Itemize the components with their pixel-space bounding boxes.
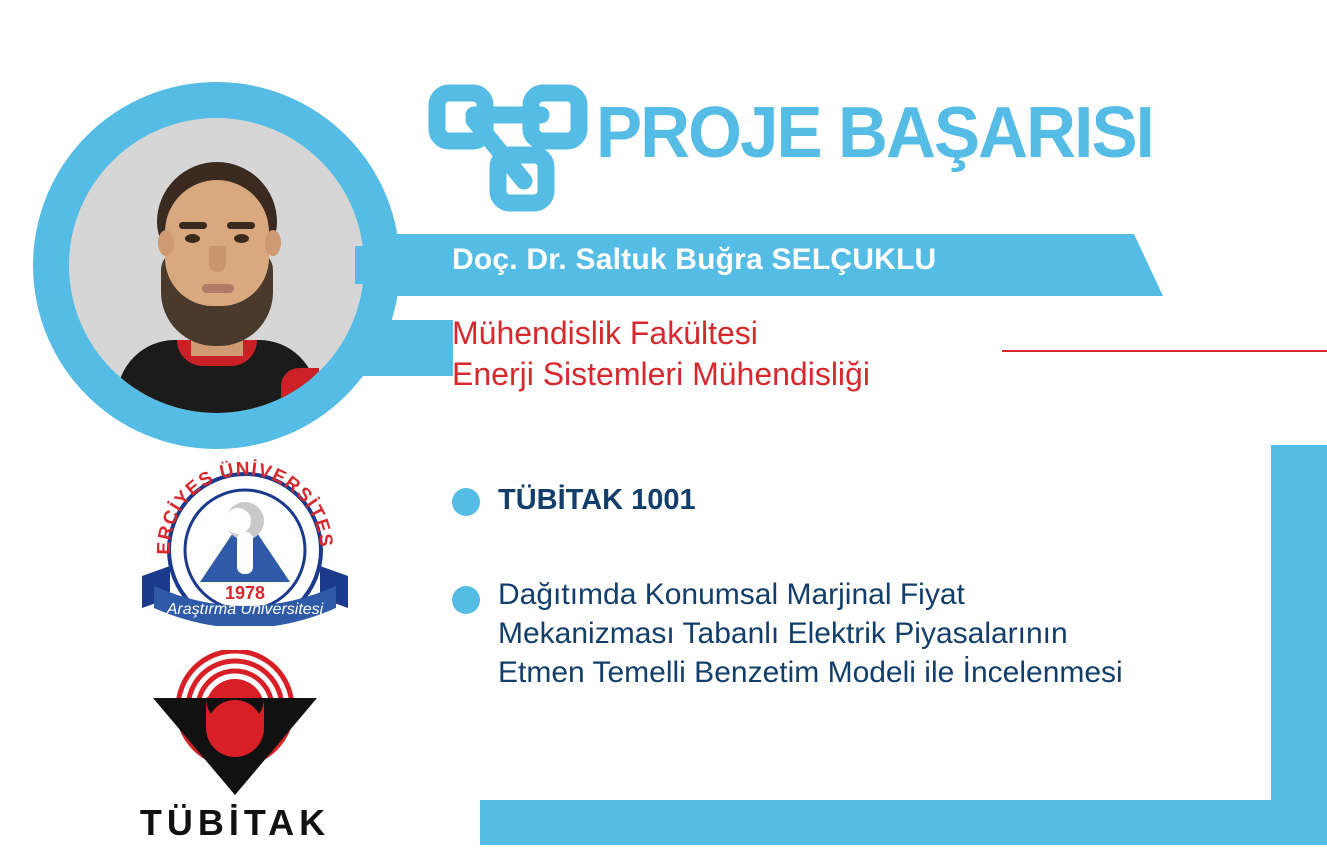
list-item: TÜBİTAK 1001 <box>452 484 1152 517</box>
list-item: Dağıtımda Konumsal Marjinal Fiyat Mekani… <box>452 575 1152 692</box>
project-bullet-list: TÜBİTAK 1001 Dağıtımda Konumsal Marjinal… <box>452 484 1152 692</box>
avatar <box>69 118 364 413</box>
portrait-eyebrow-right <box>227 222 255 229</box>
portrait-eye-right <box>234 234 249 243</box>
portrait-ear-left <box>158 230 174 256</box>
svg-text:1978: 1978 <box>225 583 265 603</box>
page-title: PROJE BAŞARISI <box>596 92 1153 174</box>
bullet-dot-icon <box>452 586 480 614</box>
person-name: Doç. Dr. Saltuk Buğra SELÇUKLU <box>452 243 936 277</box>
faculty-block: Mühendislik Fakültesi Enerji Sistemleri … <box>452 313 870 395</box>
portrait-eyebrow-left <box>179 222 207 229</box>
portrait-sleeve <box>281 368 319 413</box>
portrait-nose <box>209 246 226 272</box>
portrait-eye-left <box>185 234 200 243</box>
erciyes-universitesi-logo: ERCİYES ÜNİVERSİTESİ 1978 Araştırma Üniv… <box>140 458 350 626</box>
red-divider-rule <box>1002 350 1327 352</box>
network-nodes-icon <box>428 84 588 212</box>
poster-canvas: PROJE BAŞARISI Doç. Dr. Saltuk Buğra SEL… <box>0 0 1327 868</box>
portrait-mouth <box>202 284 234 293</box>
program-name: TÜBİTAK 1001 <box>498 484 696 517</box>
svg-text:Araştırma Üniversitesi: Araştırma Üniversitesi <box>166 600 324 618</box>
faculty-line-2: Enerji Sistemleri Mühendisliği <box>452 354 870 395</box>
project-title: Dağıtımda Konumsal Marjinal Fiyat Mekani… <box>498 575 1138 692</box>
decor-bracket-horizontal <box>480 800 1280 845</box>
tubitak-logo: TÜBİTAK <box>128 650 343 840</box>
bullet-dot-icon <box>452 488 480 516</box>
decor-bracket-vertical <box>1271 445 1327 845</box>
faculty-line-1: Mühendislik Fakültesi <box>452 313 870 354</box>
portrait-ear-right <box>265 230 281 256</box>
svg-text:TÜBİTAK: TÜBİTAK <box>140 802 330 840</box>
photo-circle <box>33 82 400 449</box>
